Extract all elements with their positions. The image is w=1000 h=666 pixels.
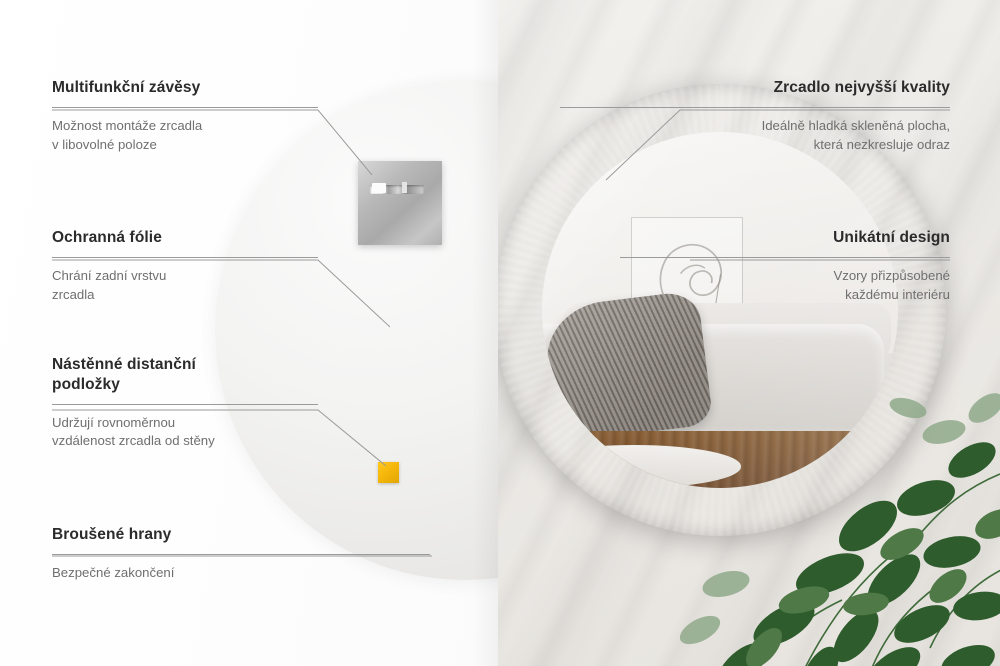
callout-body-line: která nezkresluje odraz	[814, 137, 950, 152]
callout-ochranna-folie: Ochranná fólie Chrání zadní vrstvu zrcad…	[52, 228, 318, 304]
callout-rule	[620, 257, 950, 258]
callout-body: Ideálně hladká skleněná plocha, která ne…	[560, 117, 950, 154]
callout-rule	[52, 107, 318, 108]
callout-brousene-hrany: Broušené hrany Bezpečné zakončení	[52, 525, 430, 583]
callout-body: Možnost montáže zrcadla v libovolné polo…	[52, 117, 318, 154]
callout-title: Ochranná fólie	[52, 228, 318, 248]
callout-body-line: každému interiéru	[845, 287, 950, 302]
callout-body-line: v libovolné poloze	[52, 137, 157, 152]
hanger-bracket	[358, 161, 442, 245]
callout-title: Multifunkční závěsy	[52, 78, 318, 98]
callout-rule	[52, 404, 318, 405]
callout-body: Vzory přizpůsobené každému interiéru	[620, 267, 950, 304]
callout-rule	[560, 107, 950, 108]
callout-body-line: zrcadla	[52, 287, 95, 302]
callout-multifunkcni-zavesy: Multifunkční závěsy Možnost montáže zrca…	[52, 78, 318, 154]
callout-nastenne-distancni-podlozky: Nástěnné distanční podložky Udržují rovn…	[52, 355, 318, 451]
callout-body: Bezpečné zakončení	[52, 564, 430, 583]
callout-body-line: Možnost montáže zrcadla	[52, 118, 202, 133]
callout-title: Nástěnné distanční podložky	[52, 355, 318, 395]
callout-body-line: Chrání zadní vrstvu	[52, 268, 166, 283]
callout-title: Zrcadlo nejvyšší kvality	[560, 78, 950, 98]
callout-body-line: Udržují rovnoměrnou	[52, 415, 175, 430]
callout-body: Udržují rovnoměrnou vzdálenost zrcadla o…	[52, 414, 318, 451]
callout-unikatni-design: Unikátní design Vzory přizpůsobené každé…	[620, 228, 950, 304]
callout-zrcadlo-nejvyssi-kvality: Zrcadlo nejvyšší kvality Ideálně hladká …	[560, 78, 950, 154]
callout-body-line: vzdálenost zrcadla od stěny	[52, 433, 215, 448]
wall-spacer-pad	[378, 462, 399, 483]
callout-title: Broušené hrany	[52, 525, 430, 545]
hanger-slot	[370, 185, 424, 194]
callout-body: Chrání zadní vrstvu zrcadla	[52, 267, 318, 304]
callout-title-line: podložky	[52, 376, 120, 393]
callout-body-line: Bezpečné zakončení	[52, 565, 174, 580]
infographic-canvas: Multifunkční závěsy Možnost montáže zrca…	[0, 0, 1000, 666]
callout-body-line: Ideálně hladká skleněná plocha,	[762, 118, 950, 133]
mirror-glass	[542, 132, 898, 488]
callout-rule	[52, 257, 318, 258]
mirror-back-disc	[215, 80, 498, 580]
callout-body-line: Vzory přizpůsobené	[833, 268, 950, 283]
callout-title: Unikátní design	[620, 228, 950, 248]
callout-rule	[52, 554, 430, 555]
callout-title-line: Nástěnné distanční	[52, 356, 196, 373]
